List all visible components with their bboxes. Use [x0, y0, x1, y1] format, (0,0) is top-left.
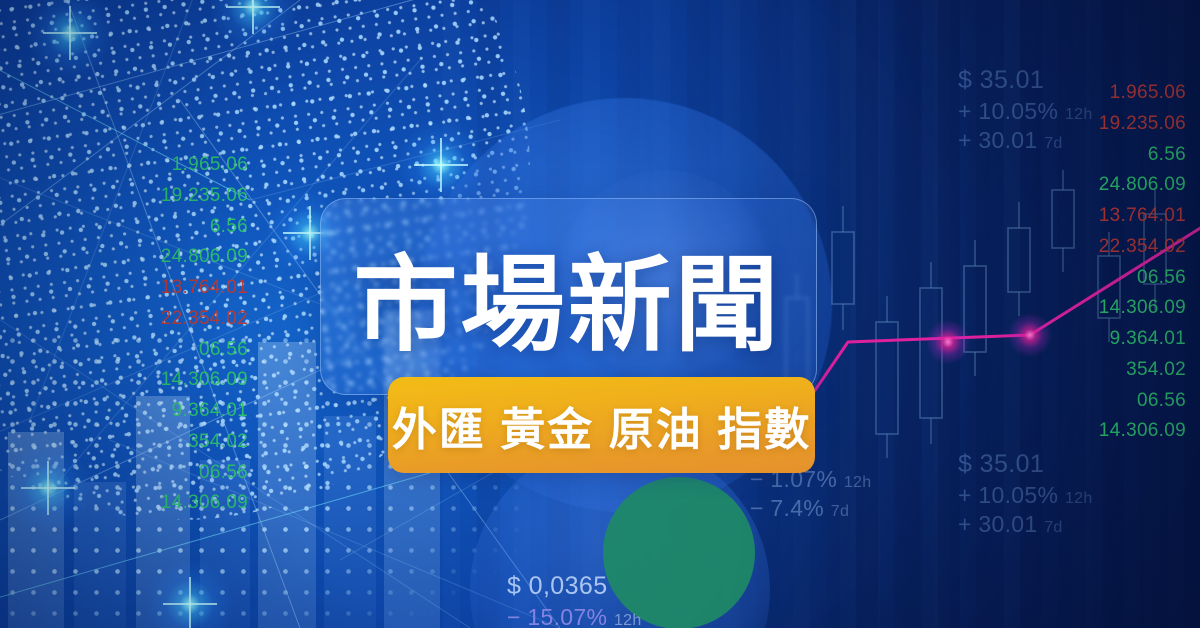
trend-line-marker — [926, 320, 970, 364]
category-badge[interactable]: 外匯 黃金 原油 指數 — [388, 377, 815, 473]
price-change-value: + 30.01 — [958, 127, 1037, 153]
ticker-value: 22.354.02 — [1099, 232, 1186, 263]
price-change-value: − 15.07% — [507, 604, 607, 628]
price-change-period: 12h — [614, 612, 642, 628]
ticker-value: 14.306.09 — [1099, 416, 1186, 447]
ticker-value: 19.235.06 — [1099, 109, 1186, 140]
hero-banner: 1.965.06 19.235.06 6.56 24.806.09 13.764… — [0, 0, 1200, 628]
ticker-value: 354.02 — [161, 427, 248, 458]
ticker-value: 9.364.01 — [161, 396, 248, 427]
ticker-value: 14.306.09 — [161, 488, 248, 519]
price-block-bottom-left: $ 0,0365 − 15.07% 12h − 40.4% 7d — [507, 570, 642, 628]
ticker-value: 1.965.06 — [161, 150, 248, 181]
price-change-period: 7d — [1044, 519, 1062, 536]
price-change-value: + 10.05% — [958, 482, 1058, 508]
ticker-value: 9.364.01 — [1099, 324, 1186, 355]
ticker-value: 06.56 — [161, 335, 248, 366]
price-block-top-right: $ 35.01 + 10.05% 12h + 30.01 7d — [958, 64, 1093, 156]
price-change-7d: − 7.4% 7d — [750, 494, 871, 524]
ticker-value: 13.764.01 — [1099, 201, 1186, 232]
ticker-value: 14.306.09 — [161, 365, 248, 396]
price-block-bottom-right: $ 35.01 + 10.05% 12h + 30.01 7d — [958, 448, 1093, 540]
ticker-value: 06.56 — [1099, 386, 1186, 417]
price-amount: $ 35.01 — [958, 64, 1093, 97]
ticker-value: 06.56 — [161, 458, 248, 489]
price-change-period: 12h — [1065, 490, 1093, 507]
price-change-period: 12h — [1065, 106, 1093, 123]
price-change-value: − 7.4% — [750, 495, 824, 521]
trend-line-marker — [1008, 313, 1052, 357]
ticker-value: 354.02 — [1099, 355, 1186, 386]
ticker-value: 14.306.09 — [1099, 293, 1186, 324]
price-change-12h: + 10.05% 12h — [958, 481, 1093, 511]
price-change-7d: + 30.01 7d — [958, 510, 1093, 540]
ticker-value: 24.806.09 — [1099, 170, 1186, 201]
ticker-value: 1.965.06 — [1099, 78, 1186, 109]
page-title: 市場新聞 — [320, 198, 815, 393]
ticker-value: 06.56 — [1099, 263, 1186, 294]
price-change-period: 12h — [844, 474, 872, 491]
price-change-7d: + 30.01 7d — [958, 126, 1093, 156]
ticker-value: 24.806.09 — [161, 242, 248, 273]
ticker-column-right: 1.965.06 19.235.06 6.56 24.806.09 13.764… — [1099, 78, 1186, 447]
category-badge-label: 外匯 黃金 原油 指數 — [392, 393, 812, 458]
ticker-value: 6.56 — [1099, 140, 1186, 171]
ticker-value: 13.764.01 — [161, 273, 248, 304]
ticker-column-left: 1.965.06 19.235.06 6.56 24.806.09 13.764… — [161, 150, 248, 519]
price-change-12h: − 15.07% 12h — [507, 603, 642, 628]
price-change-period: 7d — [1044, 135, 1062, 152]
price-change-value: + 30.01 — [958, 511, 1037, 537]
ticker-value: 6.56 — [161, 212, 248, 243]
ticker-value: 19.235.06 — [161, 181, 248, 212]
price-change-period: 7d — [831, 503, 849, 520]
price-amount: $ 35.01 — [958, 448, 1093, 481]
price-change-12h: + 10.05% 12h — [958, 97, 1093, 127]
ticker-value: 22.354.02 — [161, 304, 248, 335]
price-amount: $ 0,0365 — [507, 570, 642, 603]
price-change-value: + 10.05% — [958, 98, 1058, 124]
